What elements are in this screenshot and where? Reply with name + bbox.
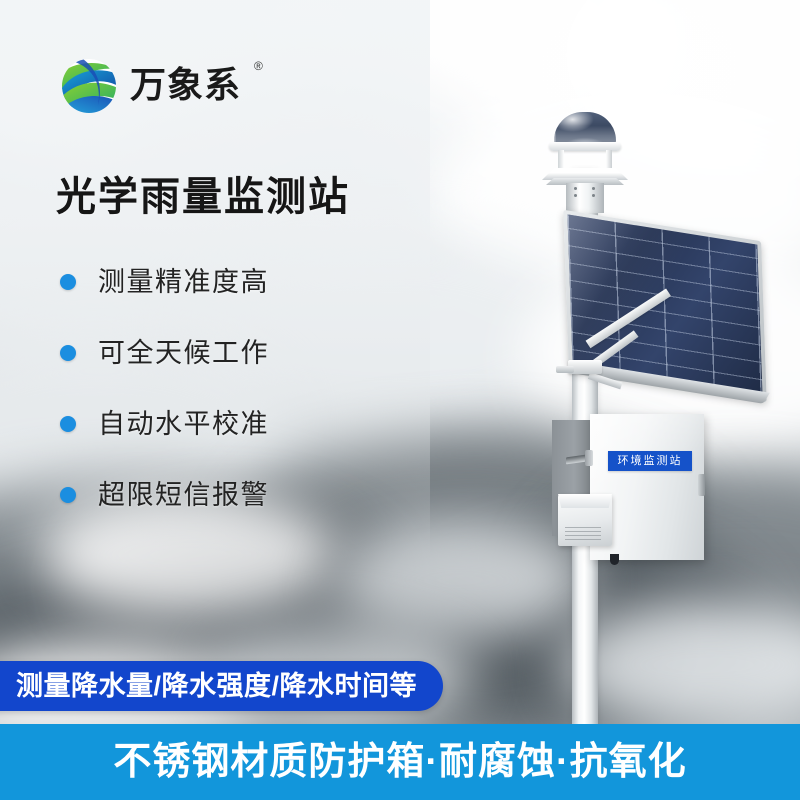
feature-label: 测量精准度高 (98, 265, 269, 299)
capability-banner-label: 测量降水量/降水强度/降水时间等 (16, 670, 417, 702)
enclosure-label-plate: 环境监测站 (608, 451, 692, 471)
feature-item: 自动水平校准 (60, 400, 390, 448)
bottom-highlight-label: 不锈钢材质防护箱·耐腐蚀·抗氧化 (113, 739, 686, 785)
enclosure-vent-module (558, 494, 612, 546)
enclosure-label-text: 环境监测站 (618, 454, 683, 468)
sensor-bolt (592, 187, 595, 190)
sensor-body (566, 183, 604, 213)
enclosure-side-slot (566, 455, 586, 465)
brand-logo: 万象系 ® (58, 55, 258, 117)
feature-item: 测量精准度高 (60, 258, 390, 306)
sensor-post-right (606, 150, 612, 170)
product-poster: 环境监测站 (0, 0, 800, 800)
sensor-dome-icon (554, 112, 616, 146)
pole-clamp-arm (556, 366, 574, 373)
feature-label: 超限短信报警 (98, 478, 269, 512)
page-title: 光学雨量监测站 (56, 172, 350, 222)
brand-name: 万象系 (130, 63, 241, 107)
globe-swoosh-logo-icon (58, 57, 120, 115)
blue-dot-icon (60, 345, 76, 361)
feature-label: 可全天候工作 (98, 336, 269, 370)
vent-louvers-icon (565, 524, 601, 540)
capability-banner: 测量降水量/降水强度/降水时间等 (0, 661, 443, 711)
enclosure-knob (610, 554, 619, 565)
sensor-post-left (558, 150, 564, 170)
enclosure-latch (698, 474, 705, 496)
sensor-bolt (574, 187, 577, 190)
enclosure-hinge (585, 450, 593, 466)
sensor-bolt (574, 194, 577, 197)
feature-item: 超限短信报警 (60, 471, 390, 519)
bottom-highlight-bar: 不锈钢材质防护箱·耐腐蚀·抗氧化 (0, 724, 800, 800)
feature-item: 可全天候工作 (60, 329, 390, 377)
feature-list: 测量精准度高 可全天候工作 自动水平校准 超限短信报警 (60, 258, 390, 542)
optical-rain-sensor (536, 112, 634, 204)
feature-label: 自动水平校准 (98, 407, 269, 441)
sensor-bolt (592, 194, 595, 197)
blue-dot-icon (60, 416, 76, 432)
blue-dot-icon (60, 274, 76, 290)
equipment-enclosure: 环境监测站 (552, 414, 704, 566)
registered-trademark-icon: ® (254, 59, 263, 73)
blue-dot-icon (60, 487, 76, 503)
